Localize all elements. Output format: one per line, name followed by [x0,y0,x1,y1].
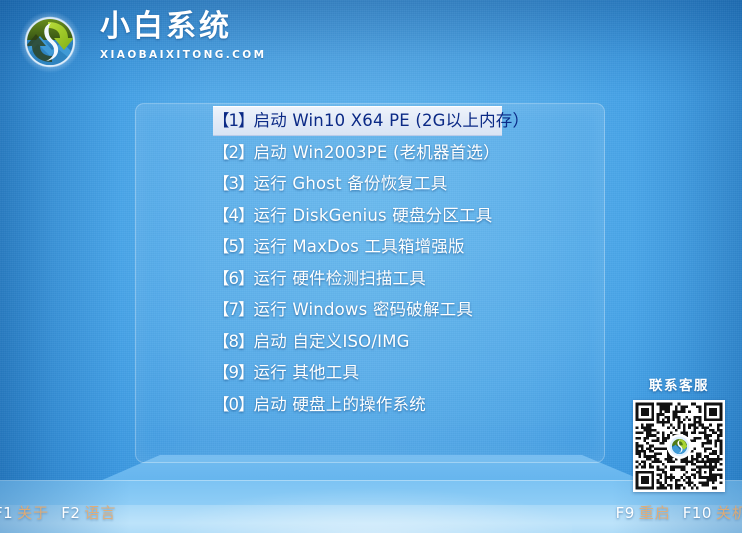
boot-menu-item-key: 【0】 [213,395,254,414]
boot-menu-item-text: 启动 硬盘上的操作系统 [254,395,426,414]
brand-logo-icon [669,436,690,457]
boot-menu-item-text: 启动 Win2003PE (老机器首选） [254,143,500,162]
boot-menu-item-text: 启动 Win10 X64 PE (2G以上内存） [254,111,530,130]
brand-header: 小白系统 XIAOBAIXITONG.COM [14,4,264,80]
boot-menu-item-key: 【8】 [213,332,254,351]
footer-keybar: F1关于F2语言 F9重启F10关机 [0,501,742,525]
brand-name-en: XIAOBAIXITONG.COM [100,48,266,62]
boot-menu-item-text: 运行 DiskGenius 硬盘分区工具 [254,206,493,225]
contact-support-title: 联系客服 [630,374,728,394]
footer-keys-left: F1关于F2语言 [0,501,116,525]
boot-menu-item-label: 【5】运行 MaxDos 工具箱增强版 [213,237,465,256]
boot-menu-item-label: 【3】运行 Ghost 备份恢复工具 [213,174,447,193]
footer-key-f9[interactable]: F9 [616,504,635,522]
boot-menu-item-2[interactable]: 【2】启动 Win2003PE (老机器首选） [135,137,603,169]
boot-menu-item-label: 【0】启动 硬盘上的操作系统 [213,395,426,414]
boot-menu-item-3[interactable]: 【3】运行 Ghost 备份恢复工具 [135,168,603,200]
brand-name-cn: 小白系统 [100,10,266,44]
boot-menu-item-label: 【1】启动 Win10 X64 PE (2G以上内存） [213,111,529,130]
boot-menu-item-key: 【5】 [213,237,254,256]
boot-menu-item-text: 运行 Ghost 备份恢复工具 [254,174,448,193]
boot-menu-item-8[interactable]: 【8】启动 自定义ISO/IMG [135,326,603,358]
footer-key-label-f1: 关于 [17,504,49,522]
footer-key-f2[interactable]: F2 [61,504,80,522]
boot-menu-item-text: 运行 其他工具 [254,363,360,382]
boot-menu-item-1[interactable]: 【1】启动 Win10 X64 PE (2G以上内存） [135,105,603,137]
footer-key-label-f10: 关机 [716,504,742,522]
boot-menu-item-text: 运行 MaxDos 工具箱增强版 [254,237,465,256]
boot-menu-screen: 小白系统 XIAOBAIXITONG.COM 【1】启动 Win10 X64 P… [0,0,742,533]
brand-text: 小白系统 XIAOBAIXITONG.COM [100,10,266,62]
boot-menu-item-label: 【7】运行 Windows 密码破解工具 [213,300,473,319]
boot-menu-item-key: 【6】 [213,269,254,288]
boot-menu-item-key: 【3】 [213,174,254,193]
boot-menu-item-10[interactable]: 【0】启动 硬盘上的操作系统 [135,389,603,421]
boot-menu-item-label: 【8】启动 自定义ISO/IMG [213,332,410,351]
footer-key-f1[interactable]: F1 [0,504,13,522]
boot-menu-item-label: 【2】启动 Win2003PE (老机器首选） [213,143,500,162]
boot-menu-item-label: 【6】运行 硬件检测扫描工具 [213,269,426,288]
boot-menu-item-7[interactable]: 【7】运行 Windows 密码破解工具 [135,294,603,326]
boot-menu-item-text: 运行 硬件检测扫描工具 [254,269,426,288]
boot-menu-item-key: 【9】 [213,363,254,382]
boot-menu-item-9[interactable]: 【9】运行 其他工具 [135,357,603,389]
footer-key-f10[interactable]: F10 [683,504,712,522]
footer-keys-right: F9重启F10关机 [616,501,742,525]
qr-code-icon [633,400,725,492]
contact-support-block: 联系客服 [630,374,728,492]
boot-menu-item-key: 【1】 [213,111,254,130]
refresh-circle-logo-icon [18,10,82,74]
footer-key-label-f2: 语言 [84,504,116,522]
boot-menu-item-5[interactable]: 【5】运行 MaxDos 工具箱增强版 [135,231,603,263]
boot-menu-item-label: 【4】运行 DiskGenius 硬盘分区工具 [213,206,492,225]
footer-key-label-f9: 重启 [639,504,671,522]
boot-menu-item-text: 启动 自定义ISO/IMG [254,332,410,351]
boot-menu-list: 【1】启动 Win10 X64 PE (2G以上内存）【2】启动 Win2003… [135,103,603,420]
boot-menu-item-key: 【7】 [213,300,254,319]
boot-menu-item-6[interactable]: 【6】运行 硬件检测扫描工具 [135,263,603,295]
boot-menu-item-label: 【9】运行 其他工具 [213,363,359,382]
boot-menu-item-text: 运行 Windows 密码破解工具 [254,300,474,319]
boot-menu-item-4[interactable]: 【4】运行 DiskGenius 硬盘分区工具 [135,200,603,232]
boot-menu-item-key: 【2】 [213,143,254,162]
boot-menu-item-key: 【4】 [213,206,254,225]
